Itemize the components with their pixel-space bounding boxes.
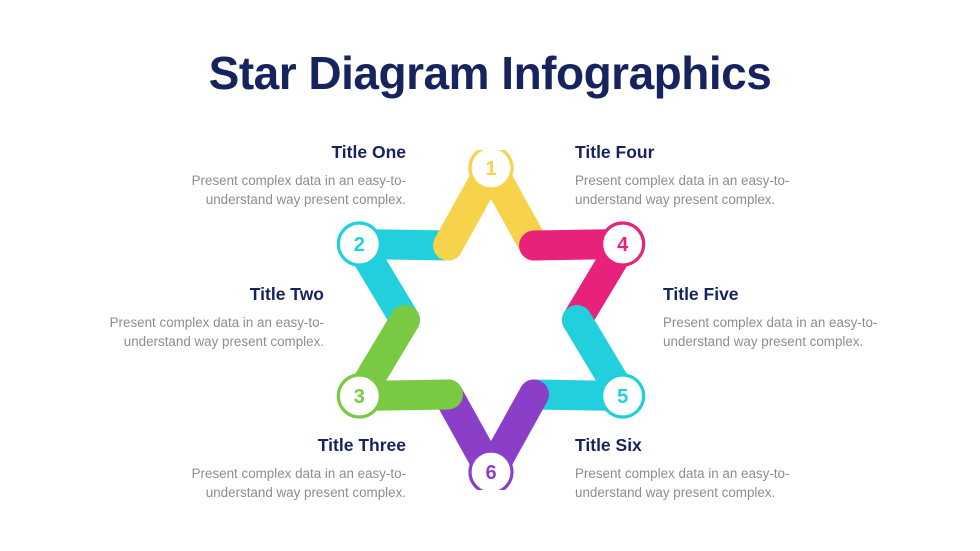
info-block-two-title: Title Two	[52, 284, 324, 306]
info-block-one-title: Title One	[134, 142, 406, 164]
info-block-six-title: Title Six	[575, 435, 847, 457]
info-block-two-body: Present complex data in an easy-to-under…	[52, 313, 324, 351]
info-block-six[interactable]: Title Six Present complex data in an eas…	[575, 435, 847, 502]
page-title: Star Diagram Infographics	[0, 48, 980, 99]
info-block-one-body: Present complex data in an easy-to-under…	[134, 171, 406, 209]
info-block-four-body: Present complex data in an easy-to-under…	[575, 171, 847, 209]
star-node-number-6: 6	[485, 462, 496, 484]
slide-canvas: Star Diagram Infographics 123456 Title O…	[0, 0, 980, 551]
star-ribbon-group	[359, 168, 622, 472]
info-block-four-title: Title Four	[575, 142, 847, 164]
star-node-number-5: 5	[617, 386, 628, 408]
star-node-1[interactable]: 1	[470, 150, 512, 189]
info-block-two[interactable]: Title Two Present complex data in an eas…	[52, 284, 324, 351]
info-block-four[interactable]: Title Four Present complex data in an ea…	[575, 142, 847, 209]
star-node-number-1: 1	[485, 158, 496, 180]
star-node-5[interactable]: 5	[602, 375, 644, 417]
star-node-2[interactable]: 2	[338, 223, 380, 265]
info-block-three-body: Present complex data in an easy-to-under…	[134, 464, 406, 502]
star-node-3[interactable]: 3	[338, 375, 380, 417]
info-block-five-title: Title Five	[663, 284, 935, 306]
star-node-number-2: 2	[354, 234, 365, 256]
info-block-one[interactable]: Title One Present complex data in an eas…	[134, 142, 406, 209]
info-block-three-title: Title Three	[134, 435, 406, 457]
info-block-five[interactable]: Title Five Present complex data in an ea…	[663, 284, 935, 351]
info-block-five-body: Present complex data in an easy-to-under…	[663, 313, 935, 351]
star-node-number-4: 4	[617, 234, 629, 256]
info-block-six-body: Present complex data in an easy-to-under…	[575, 464, 847, 502]
star-node-6[interactable]: 6	[470, 451, 512, 490]
info-block-three[interactable]: Title Three Present complex data in an e…	[134, 435, 406, 502]
star-node-number-3: 3	[354, 386, 365, 408]
star-node-4[interactable]: 4	[602, 223, 644, 265]
